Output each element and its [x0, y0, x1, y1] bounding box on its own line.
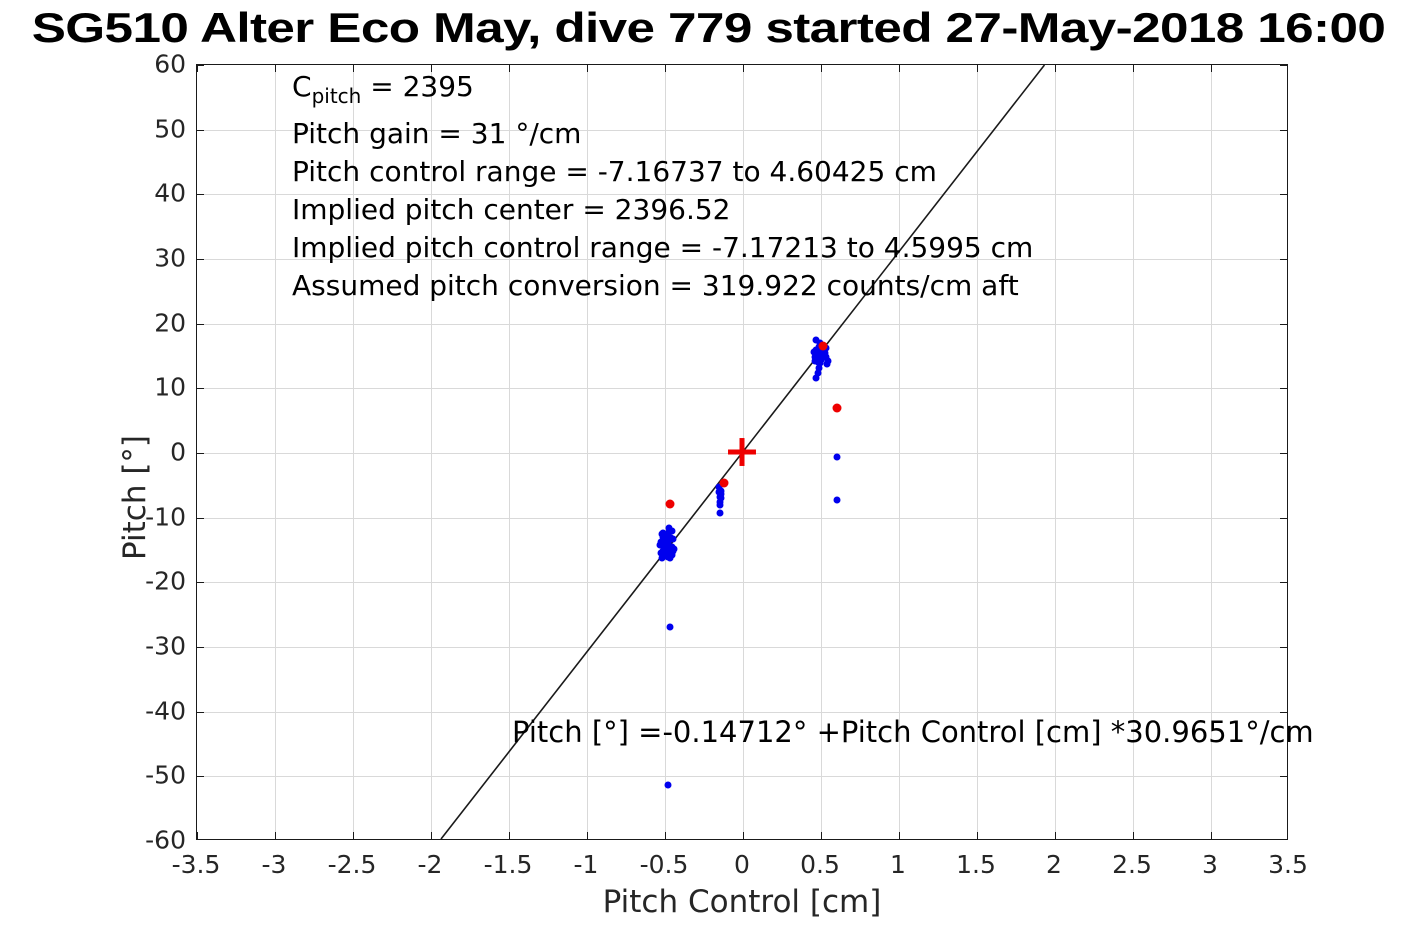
axis-tick-mark — [509, 832, 510, 839]
axis-tick-mark — [1133, 832, 1134, 839]
y-tick-label: 10 — [100, 373, 186, 402]
axis-tick-mark — [1133, 65, 1134, 72]
c-pitch-value: = 2395 — [361, 70, 474, 103]
x-axis-label: Pitch Control [cm] — [196, 884, 1288, 920]
x-tick-label: -2.5 — [328, 850, 377, 879]
axis-tick-mark — [197, 647, 204, 648]
axis-tick-mark — [353, 832, 354, 839]
axis-tick-mark — [197, 324, 204, 325]
axis-tick-mark — [197, 453, 204, 454]
x-tick-label: 3 — [1202, 850, 1218, 879]
axis-tick-mark — [821, 832, 822, 839]
axis-tick-mark — [1280, 65, 1287, 66]
fit-equation-label: Pitch [°] =-0.14712° +Pitch Control [cm]… — [512, 715, 1314, 749]
axis-tick-mark — [275, 65, 276, 72]
axis-tick-mark — [275, 832, 276, 839]
x-tick-label: -2 — [418, 850, 443, 879]
axis-tick-mark — [197, 130, 204, 131]
x-tick-label: 2 — [1046, 850, 1062, 879]
axis-tick-mark — [1280, 194, 1287, 195]
c-pitch-subscript: pitch — [312, 84, 362, 108]
axis-tick-mark — [197, 194, 204, 195]
axis-tick-mark — [197, 259, 204, 260]
axis-tick-mark — [743, 832, 744, 839]
axis-tick-mark — [665, 832, 666, 839]
annotation-line-5: Implied pitch control range = -7.17213 t… — [292, 229, 1033, 267]
y-tick-label: 60 — [100, 50, 186, 79]
x-tick-label: -1.5 — [484, 850, 533, 879]
c-pitch-symbol: C — [292, 70, 312, 103]
axis-tick-mark — [197, 776, 204, 777]
x-tick-label: 0 — [734, 850, 750, 879]
axis-tick-mark — [899, 832, 900, 839]
y-tick-label: 20 — [100, 308, 186, 337]
axis-tick-mark — [1280, 324, 1287, 325]
y-tick-label: -50 — [100, 761, 186, 790]
axis-tick-mark — [1280, 453, 1287, 454]
axis-tick-mark — [587, 832, 588, 839]
x-tick-label: 1.5 — [956, 850, 996, 879]
x-tick-label: -0.5 — [640, 850, 689, 879]
axis-tick-mark — [977, 832, 978, 839]
axis-tick-mark — [197, 65, 198, 72]
axis-tick-mark — [1280, 130, 1287, 131]
axis-tick-mark — [197, 518, 204, 519]
annotation-line-3: Pitch control range = -7.16737 to 4.6042… — [292, 153, 1033, 191]
y-axis-label: Pitch [°] — [117, 435, 153, 560]
x-tick-label: 2.5 — [1112, 850, 1152, 879]
axis-tick-mark — [197, 712, 204, 713]
axis-tick-mark — [197, 388, 204, 389]
axis-tick-mark — [1280, 712, 1287, 713]
axis-tick-mark — [197, 832, 198, 839]
annotation-line-2: Pitch gain = 31 °/cm — [292, 115, 1033, 153]
y-tick-label: 40 — [100, 179, 186, 208]
x-tick-label: 3.5 — [1268, 850, 1308, 879]
axis-tick-mark — [1211, 65, 1212, 72]
axis-tick-mark — [1211, 832, 1212, 839]
x-tick-label: -3 — [262, 850, 287, 879]
axis-tick-mark — [1055, 65, 1056, 72]
axis-tick-mark — [431, 832, 432, 839]
annotation-line-6: Assumed pitch conversion = 319.922 count… — [292, 267, 1033, 305]
parameter-annotation: Cpitch = 2395 Pitch gain = 31 °/cm Pitch… — [292, 68, 1033, 305]
axis-tick-mark — [1280, 776, 1287, 777]
axis-tick-mark — [197, 65, 204, 66]
axis-tick-mark — [1280, 259, 1287, 260]
y-tick-label: -40 — [100, 696, 186, 725]
axis-tick-mark — [1280, 647, 1287, 648]
y-tick-label: -30 — [100, 632, 186, 661]
axis-tick-mark — [1055, 832, 1056, 839]
axis-tick-mark — [197, 582, 204, 583]
x-tick-label: -1 — [574, 850, 599, 879]
y-tick-label: 30 — [100, 244, 186, 273]
annotation-line-4: Implied pitch center = 2396.52 — [292, 191, 1033, 229]
y-tick-label: -60 — [100, 826, 186, 855]
x-tick-label: 0.5 — [800, 850, 840, 879]
axis-tick-mark — [1280, 582, 1287, 583]
annotation-line-1: Cpitch = 2395 — [292, 68, 1033, 115]
figure-canvas: SG510 Alter Eco May, dive 779 started 27… — [0, 0, 1417, 945]
x-tick-label: 1 — [890, 850, 906, 879]
y-tick-label: 50 — [100, 114, 186, 143]
axis-tick-mark — [1280, 388, 1287, 389]
axis-tick-mark — [1280, 518, 1287, 519]
y-tick-label: -20 — [100, 567, 186, 596]
figure-title: SG510 Alter Eco May, dive 779 started 27… — [0, 2, 1417, 54]
